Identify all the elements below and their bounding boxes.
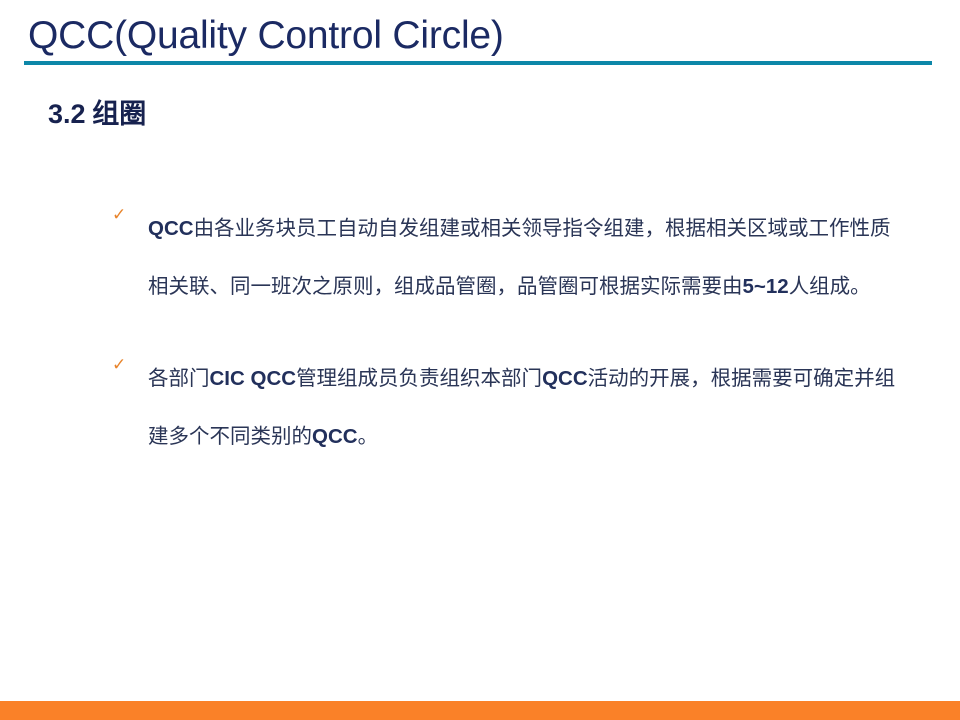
section-heading-number: 3.2 [48,99,86,129]
check-mark-icon: ✓ [112,204,132,226]
title-divider-rule [24,61,932,65]
list-item-text: QCC由各业务块员工自动自发组建或相关领导指令组建，根据相关区域或工作性质相关联… [148,200,900,316]
list-item-text: 各部门CIC QCC管理组成员负责组织本部门QCC活动的开展，根据需要可确定并组… [148,350,900,466]
slide-canvas: QCC(Quality Control Circle) 3.2 组圈 ✓ QCC… [0,0,960,720]
list-item-run-cjk: 。 [358,426,379,448]
list-item-run-latin: CIC QCC [210,367,297,390]
section-heading-text: 组圈 [92,99,146,129]
bullet-list: ✓ QCC由各业务块员工自动自发组建或相关领导指令组建，根据相关区域或工作性质相… [110,200,900,466]
list-item-run-latin: QCC [542,367,588,390]
section-heading: 3.2 组圈 [48,96,146,132]
slide-title-block: QCC(Quality Control Circle) [0,0,960,70]
list-item-run-latin: QCC [148,217,194,240]
list-item-run-latin: 5~12 [743,275,789,298]
list-item: ✓ 各部门CIC QCC管理组成员负责组织本部门QCC活动的开展，根据需要可确定… [110,350,900,466]
list-item-run-cjk: 管理组成员负责组织本部门 [296,368,542,390]
list-item: ✓ QCC由各业务块员工自动自发组建或相关领导指令组建，根据相关区域或工作性质相… [110,200,900,316]
footer-accent-bar [0,701,960,720]
list-item-run-latin: QCC [312,425,358,448]
list-item-run-cjk: 各部门 [148,368,210,390]
page-title: QCC(Quality Control Circle) [28,12,504,60]
check-mark-icon: ✓ [112,354,132,376]
list-item-run-cjk: 人组成。 [789,276,871,298]
